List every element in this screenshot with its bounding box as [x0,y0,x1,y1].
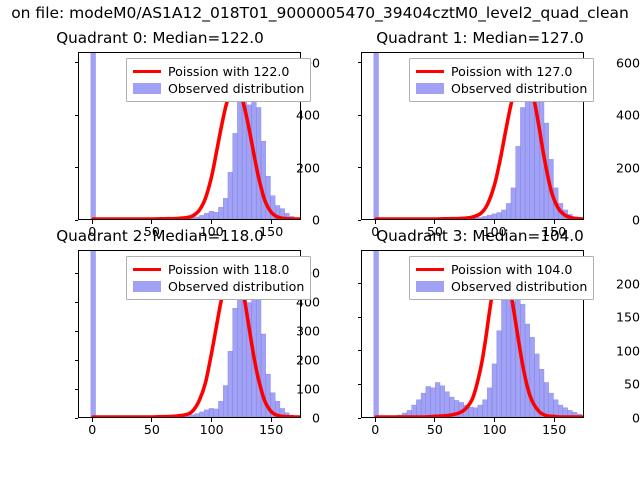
xtick-mark [494,418,495,422]
histogram-bar [492,364,497,417]
ytick-mark [75,360,79,361]
legend-patch-swatch [133,281,161,292]
ytick-mark [75,167,79,168]
histogram-bar [516,146,521,219]
histogram-bar [539,369,544,417]
ytick-label: 200 [248,160,320,175]
ytick-mark [75,220,79,221]
legend-line-swatch [133,70,161,74]
histogram-bar [530,102,535,219]
xtick-label: 150 [259,422,283,437]
xtick-mark [151,220,152,224]
figure-suptitle: on file: modeM0/AS1A12_018T01_9000005470… [11,4,629,22]
histogram-bar [506,203,511,219]
histogram-bar [468,407,473,417]
ytick-label: 150 [605,310,640,325]
xtick-label: 0 [371,422,379,437]
legend-line-swatch [133,268,161,272]
ytick-label: 600 [605,55,640,70]
histogram-bar [190,415,195,417]
legend-label-poisson: Poission with 104.0 [451,262,572,277]
legend-entry-observed: Observed distribution [133,80,304,97]
xtick-mark [211,220,212,224]
histogram-bar [431,388,436,417]
histogram-bar [209,408,214,417]
legend-label-poisson: Poission with 118.0 [168,262,289,277]
ytick-label: 0 [605,411,640,426]
xtick-mark [375,220,376,224]
legend-quadrant-0[interactable]: Poission with 122.0 Observed distributio… [126,58,311,102]
histogram-bar [204,213,209,219]
histogram-bar [261,141,266,219]
legend-entry-observed: Observed distribution [416,80,587,97]
xtick-label: 50 [144,422,160,437]
histogram-bar [223,386,228,417]
ytick-mark [358,350,362,351]
ytick-label: 400 [605,108,640,123]
histogram-bar [233,133,238,219]
histogram-bar [218,401,223,417]
histogram-bar [237,288,242,417]
histogram-bar [426,386,431,417]
ytick-mark [75,115,79,116]
legend-entry-observed: Observed distribution [416,278,587,295]
legend-line-swatch [416,70,444,74]
legend-label-poisson: Poission with 122.0 [168,64,289,79]
histogram-bar [237,97,242,219]
histogram-bar [91,53,96,219]
histogram-bar [511,188,516,219]
histogram-bar [483,400,488,417]
xtick-mark [494,220,495,224]
ytick-mark [358,283,362,284]
ytick-mark [358,167,362,168]
histogram-bar [218,207,223,219]
ytick-mark [358,384,362,385]
histogram-bar [497,331,502,417]
histogram-bar [223,198,228,219]
legend-entry-poisson: Poission with 127.0 [416,63,587,80]
histogram-bar [374,53,379,219]
histogram-bar [487,215,492,219]
subplot-quadrant-1: Quadrant 1: Median=127.0 0 200 400 600 0… [320,28,640,240]
histogram-bar [200,215,205,219]
subplot-title-quadrant-2: Quadrant 2: Median=118.0 [56,227,264,245]
histogram-bar [214,212,219,219]
ytick-mark [75,331,79,332]
xtick-mark [92,220,93,224]
histogram-bar [209,211,214,219]
legend-label-observed: Observed distribution [168,81,304,96]
subplot-quadrant-0: Quadrant 0: Median=122.0 0 200 400 600 0… [0,28,320,240]
legend-quadrant-2[interactable]: Poission with 118.0 Observed distributio… [126,256,311,300]
ytick-label: 100 [248,382,320,397]
xtick-mark [554,220,555,224]
xtick-label: 150 [542,422,566,437]
histogram-bar [195,414,200,417]
subplot-title-quadrant-1: Quadrant 1: Median=127.0 [376,29,584,47]
histogram-bar [200,412,205,417]
ytick-mark [358,115,362,116]
xtick-mark [434,418,435,422]
histogram-bar [492,214,497,219]
legend-patch-swatch [416,281,444,292]
ytick-label: 200 [605,276,640,291]
legend-entry-observed: Observed distribution [133,278,304,295]
xtick-mark [434,220,435,224]
ytick-mark [75,389,79,390]
histogram-bar [228,172,233,219]
ytick-mark [75,418,79,419]
legend-entry-poisson: Poission with 118.0 [133,261,304,278]
xtick-label: 100 [200,422,224,437]
legend-quadrant-1[interactable]: Poission with 127.0 Observed distributio… [409,58,594,102]
histogram-bar [553,400,558,417]
ytick-label: 100 [605,343,640,358]
legend-line-swatch [416,268,444,272]
ytick-mark [358,317,362,318]
ytick-mark [75,273,79,274]
legend-label-observed: Observed distribution [451,279,587,294]
histogram-bar [445,392,450,417]
histogram-bar [525,324,530,417]
histogram-bar [204,410,209,417]
histogram-bar [487,388,492,417]
histogram-bar [501,210,506,219]
histogram-bar [416,400,421,417]
ytick-mark [358,418,362,419]
histogram-bar [195,217,200,219]
ytick-mark [358,220,362,221]
subplot-quadrant-3: Quadrant 3: Median=104.0 0 50 100 150 20… [320,226,640,480]
legend-patch-swatch [133,83,161,94]
matplotlib-figure: on file: modeM0/AS1A12_018T01_9000005470… [0,0,640,480]
histogram-bar [549,393,554,417]
subplot-quadrant-2: Quadrant 2: Median=118.0 0 100 200 300 4… [0,226,320,480]
xtick-mark [211,418,212,422]
histogram-bar [478,217,483,219]
histogram-bar [91,251,96,417]
ytick-mark [75,62,79,63]
histogram-bar [435,382,440,417]
histogram-bar [483,216,488,219]
ytick-mark [75,302,79,303]
legend-label-observed: Observed distribution [451,81,587,96]
ytick-label: 200 [605,160,640,175]
xtick-mark [554,418,555,422]
histogram-bar [440,386,445,417]
xtick-label: 0 [88,422,96,437]
legend-patch-swatch [416,83,444,94]
legend-entry-poisson: Poission with 122.0 [133,63,304,80]
subplot-title-quadrant-0: Quadrant 0: Median=122.0 [56,29,264,47]
histogram-bar [520,107,525,219]
xtick-mark [271,220,272,224]
histogram-bar [421,393,426,417]
ytick-label: 200 [248,353,320,368]
ytick-label: 400 [248,108,320,123]
xtick-mark [375,418,376,422]
histogram-bar [412,405,417,417]
histogram-bar [473,408,478,417]
histogram-bar [544,382,549,417]
xtick-mark [92,418,93,422]
histogram-bar [478,405,483,417]
legend-quadrant-3[interactable]: Poission with 104.0 Observed distributio… [409,256,594,300]
histogram-bar [501,297,506,417]
ytick-label: 300 [248,324,320,339]
ytick-label: 50 [605,377,640,392]
histogram-bar [228,351,233,417]
xtick-label: 50 [427,422,443,437]
legend-entry-poisson: Poission with 104.0 [416,261,587,278]
histogram-bar [214,409,219,417]
ytick-mark [358,62,362,63]
xtick-mark [151,418,152,422]
xtick-mark [271,418,272,422]
subplot-title-quadrant-3: Quadrant 3: Median=104.0 [376,227,584,245]
histogram-bar [374,251,379,417]
histogram-bar [233,308,238,417]
xtick-label: 100 [483,422,507,437]
legend-label-observed: Observed distribution [168,279,304,294]
histogram-bar [497,213,502,219]
legend-label-poisson: Poission with 127.0 [451,64,572,79]
